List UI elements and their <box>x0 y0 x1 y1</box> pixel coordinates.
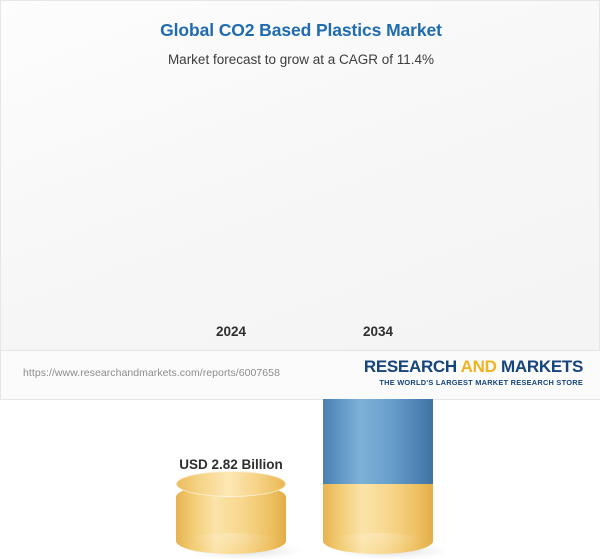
logo-word-markets: MARKETS <box>497 357 583 376</box>
x-tick-label-2024: 2024 <box>151 324 311 339</box>
x-tick-label-2034: 2034 <box>298 324 458 339</box>
page-title: Global CO2 Based Plastics Market <box>1 19 600 41</box>
logo-word-research: RESEARCH <box>364 357 461 376</box>
logo-word-and: AND <box>461 357 497 376</box>
chart-subtitle: Market forecast to grow at a CAGR of 11.… <box>1 41 600 69</box>
logo-wordmark: RESEARCH AND MARKETS <box>364 357 583 377</box>
value-label-2024: USD 2.82 Billion <box>151 457 311 472</box>
cylinder-bottom-cap <box>323 533 433 554</box>
chart-plot-area: USD 2.82 Billion 2024 USD 8.29 Billion <box>1 89 600 339</box>
logo-tagline: THE WORLD'S LARGEST MARKET RESEARCH STOR… <box>364 377 583 388</box>
report-url-link[interactable]: https://www.researchandmarkets.com/repor… <box>23 367 280 379</box>
cylinder-bottom-cap <box>176 533 286 554</box>
chart-header: Global CO2 Based Plastics Market Market … <box>1 19 600 69</box>
footer-bar: https://www.researchandmarkets.com/repor… <box>1 350 600 399</box>
brand-logo[interactable]: RESEARCH AND MARKETS THE WORLD'S LARGEST… <box>364 357 583 388</box>
infographic-canvas: Global CO2 Based Plastics Market Market … <box>0 0 600 400</box>
cylinder-top-cap <box>176 471 286 497</box>
cylinder-bar-2024[interactable] <box>176 484 286 554</box>
